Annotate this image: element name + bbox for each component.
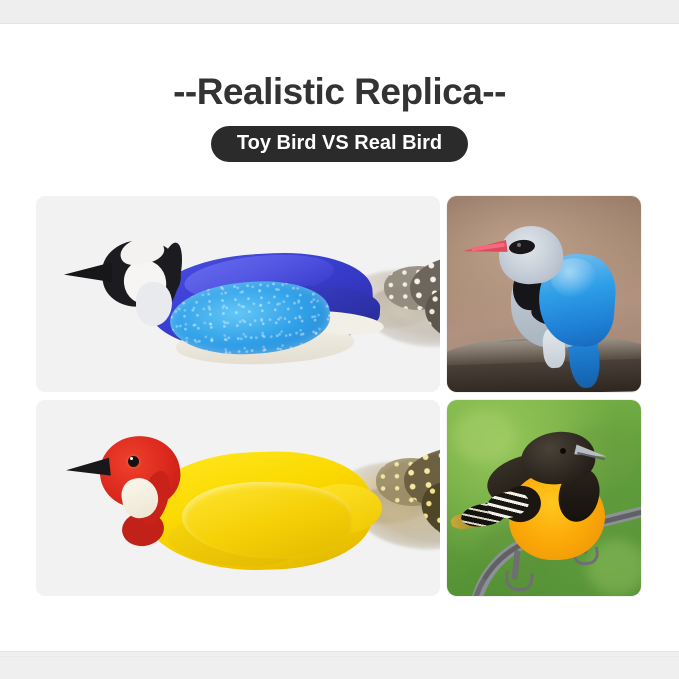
comparison-row-yellow xyxy=(36,400,642,596)
page-title: --Realistic Replica-- xyxy=(0,70,679,114)
bottom-chrome-band xyxy=(0,651,679,679)
toy-beak xyxy=(63,262,112,285)
comparison-grid xyxy=(36,196,642,596)
comparison-badge: Toy Bird VS Real Bird xyxy=(211,126,468,162)
badge-row: Toy Bird VS Real Bird xyxy=(0,126,679,162)
real-bird-photo-oriole xyxy=(447,400,641,596)
comparison-row-blue xyxy=(36,196,642,392)
toy-eye-highlight xyxy=(130,457,133,460)
foliage-blur-1 xyxy=(453,410,515,462)
yellow-red-head-toy-bird xyxy=(64,426,434,572)
real-bird-photo-kingfisher xyxy=(447,196,641,392)
blue-jay-toy-bird xyxy=(64,226,434,366)
oriole-eye xyxy=(560,448,566,454)
kingfisher-eye-highlight xyxy=(517,243,521,247)
top-chrome-band xyxy=(0,0,679,24)
toy-panel-yellow-bird xyxy=(36,400,440,596)
toy-panel-blue-jay xyxy=(36,196,440,392)
header: --Realistic Replica-- Toy Bird VS Real B… xyxy=(0,70,679,162)
